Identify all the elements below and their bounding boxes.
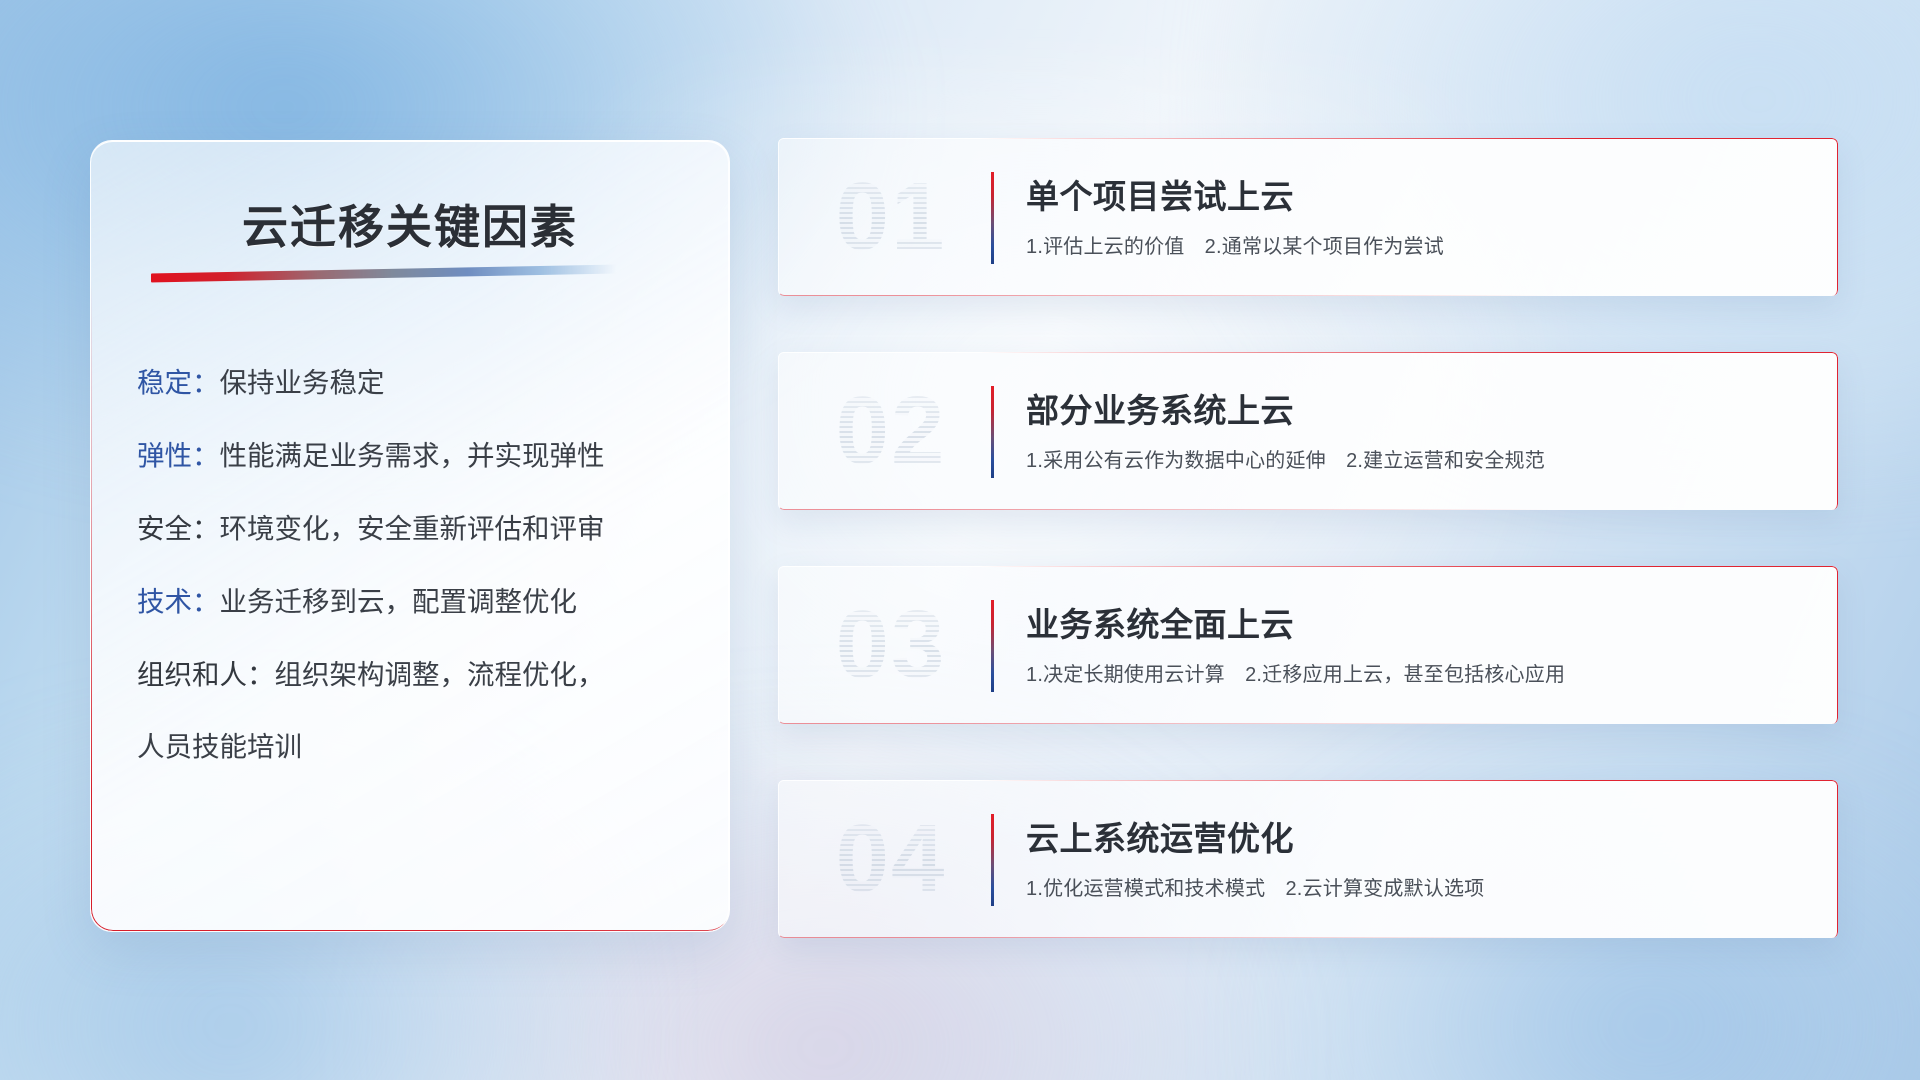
bullet-label: 技术： <box>137 586 220 617</box>
list-item: 组织和人：组织架构调整，流程优化， <box>137 661 695 690</box>
card-divider-bar <box>991 172 994 264</box>
list-item: 弹性：性能满足业务需求，并实现弹性 <box>137 442 695 471</box>
list-item: 安全：环境变化，安全重新评估和评审 <box>137 515 695 544</box>
list-item: 稳定：保持业务稳定 <box>137 369 695 398</box>
bullet-text: 性能满足业务需求，并实现弹性 <box>220 440 605 471</box>
card-description: 1.采用公有云作为数据中心的延伸 2.建立运营和安全规范 <box>1026 444 1545 473</box>
key-factors-list: 稳定：保持业务稳定 弹性：性能满足业务需求，并实现弹性 安全：环境变化，安全重新… <box>137 369 695 806</box>
bullet-label: 安全： <box>137 513 220 544</box>
stage-card[interactable]: 03 业务系统全面上云 1.决定长期使用云计算 2.迁移应用上云，甚至包括核心应… <box>778 566 1838 724</box>
card-divider-bar <box>991 600 994 692</box>
panel-title: 云迁移关键因素 <box>91 191 729 257</box>
list-item: 人员技能培训 <box>137 733 695 762</box>
card-number: 02 <box>816 376 966 486</box>
card-number: 04 <box>816 804 966 914</box>
key-factors-panel: 云迁移关键因素 稳定：保持业务稳定 弹性：性能满足业务需求，并实现弹性 安全：环… <box>90 140 730 932</box>
card-divider-bar <box>991 814 994 906</box>
title-gradient-rule <box>151 265 616 283</box>
bullet-text: 组织架构调整，流程优化， <box>275 659 605 690</box>
card-number: 01 <box>816 162 966 272</box>
bullet-label: 弹性： <box>137 440 220 471</box>
bullet-text: 人员技能培训 <box>137 731 302 762</box>
bullet-label: 组织和人： <box>137 659 275 690</box>
stage-card[interactable]: 02 部分业务系统上云 1.采用公有云作为数据中心的延伸 2.建立运营和安全规范 <box>778 352 1838 510</box>
stage-card[interactable]: 04 云上系统运营优化 1.优化运营模式和技术模式 2.云计算变成默认选项 <box>778 780 1838 938</box>
stage-card-list: 01 单个项目尝试上云 1.评估上云的价值 2.通常以某个项目作为尝试 02 部… <box>778 138 1838 994</box>
card-title: 部分业务系统上云 <box>1026 384 1294 432</box>
card-description: 1.决定长期使用云计算 2.迁移应用上云，甚至包括核心应用 <box>1026 658 1565 687</box>
card-description: 1.评估上云的价值 2.通常以某个项目作为尝试 <box>1026 230 1444 259</box>
card-title: 云上系统运营优化 <box>1026 812 1294 860</box>
stage-card[interactable]: 01 单个项目尝试上云 1.评估上云的价值 2.通常以某个项目作为尝试 <box>778 138 1838 296</box>
list-item: 技术：业务迁移到云，配置调整优化 <box>137 588 695 617</box>
bullet-text: 环境变化，安全重新评估和评审 <box>220 513 605 544</box>
bullet-label: 稳定： <box>137 367 220 398</box>
bullet-text: 保持业务稳定 <box>220 367 385 398</box>
bullet-text: 业务迁移到云，配置调整优化 <box>220 586 578 617</box>
card-number: 03 <box>816 590 966 700</box>
card-title: 单个项目尝试上云 <box>1026 170 1294 218</box>
slide-canvas: 云迁移关键因素 稳定：保持业务稳定 弹性：性能满足业务需求，并实现弹性 安全：环… <box>0 0 1920 1080</box>
card-description: 1.优化运营模式和技术模式 2.云计算变成默认选项 <box>1026 872 1484 901</box>
card-divider-bar <box>991 386 994 478</box>
card-title: 业务系统全面上云 <box>1026 598 1294 646</box>
